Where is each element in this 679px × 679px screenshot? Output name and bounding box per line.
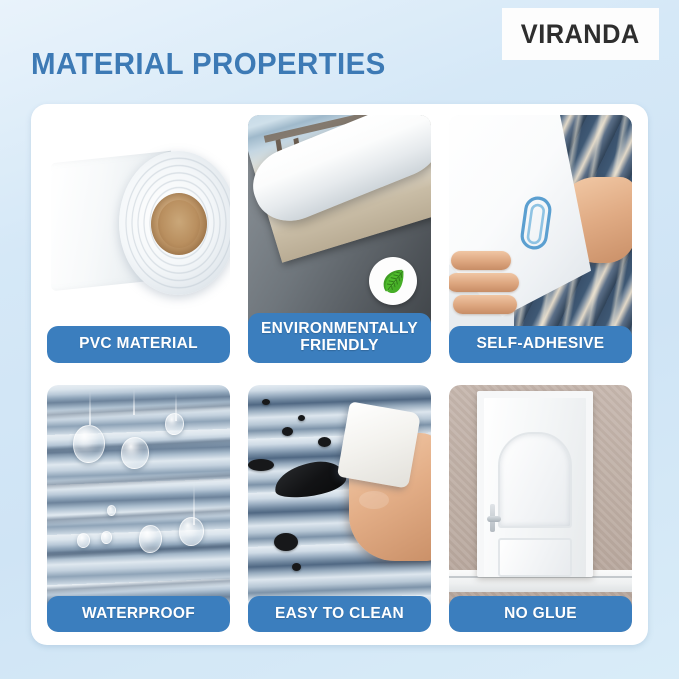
feature-card-environmentally-friendly[interactable]: ENVIRONMENTALLY FRIENDLY xyxy=(248,115,431,363)
drip-trail-1 xyxy=(89,391,91,425)
feature-label-pvc-material: PVC MATERIAL xyxy=(47,326,230,362)
stain-dot-4 xyxy=(318,437,331,447)
finger-3 xyxy=(453,295,517,314)
water-droplet-4 xyxy=(179,517,204,546)
pvc-roll-graphic xyxy=(51,151,230,296)
page-title: MATERIAL PROPERTIES xyxy=(31,46,386,82)
feature-label-waterproof: WATERPROOF xyxy=(47,596,230,632)
feature-label-line-2: FRIENDLY xyxy=(300,337,378,354)
water-droplet-6 xyxy=(77,533,90,548)
waterproof-image xyxy=(47,385,230,633)
no-glue-door-image xyxy=(449,385,632,633)
features-panel: PVC MATERIAL xyxy=(31,104,648,645)
feature-label-no-glue: NO GLUE xyxy=(449,596,632,632)
feature-card-no-glue[interactable]: NO GLUE xyxy=(449,385,632,633)
eco-curl-tip xyxy=(406,115,431,120)
water-droplet-1 xyxy=(73,425,105,463)
feature-card-pvc-material[interactable]: PVC MATERIAL xyxy=(47,115,230,363)
knuckle-2 xyxy=(359,491,389,509)
water-droplet-8 xyxy=(107,505,116,516)
door-panel-top xyxy=(498,432,572,528)
stain-dot-7 xyxy=(292,563,301,571)
stain-dot-5 xyxy=(248,459,274,471)
left-hand xyxy=(451,247,537,321)
feature-card-waterproof[interactable]: WATERPROOF xyxy=(47,385,230,633)
features-grid: PVC MATERIAL xyxy=(47,115,632,632)
stain-dot-2 xyxy=(298,415,305,421)
feature-card-self-adhesive[interactable]: SELF-ADHESIVE xyxy=(449,115,632,363)
door-slab xyxy=(484,398,586,577)
feature-card-easy-to-clean[interactable]: EASY TO CLEAN xyxy=(248,385,431,633)
finger-1 xyxy=(451,251,511,270)
material-properties-infographic: VIRANDA MATERIAL PROPERTIES xyxy=(0,0,679,679)
finger-2 xyxy=(449,273,519,292)
pvc-roll-core-inner xyxy=(158,200,200,248)
water-droplet-5 xyxy=(139,525,162,553)
leaf-icon xyxy=(369,257,417,305)
feature-label-environmentally-friendly: ENVIRONMENTALLY FRIENDLY xyxy=(248,313,431,363)
feature-label-self-adhesive: SELF-ADHESIVE xyxy=(449,326,632,362)
pvc-roll-core xyxy=(151,193,207,255)
door-frame xyxy=(477,391,593,577)
feature-label-line-1: ENVIRONMENTALLY xyxy=(261,320,418,337)
door-handle xyxy=(487,516,501,522)
stain-smear xyxy=(272,457,348,501)
stain-dot-6 xyxy=(274,533,298,551)
water-droplet-3 xyxy=(165,413,184,435)
stain-dot-3 xyxy=(282,427,293,436)
brand-name: VIRANDA xyxy=(521,19,640,50)
drip-trail-2 xyxy=(133,389,135,415)
brand-logo: VIRANDA xyxy=(502,8,659,60)
water-droplet-2 xyxy=(121,437,149,469)
stain-dot-1 xyxy=(262,399,270,405)
feature-label-easy-to-clean: EASY TO CLEAN xyxy=(248,596,431,632)
door-panel-bottom xyxy=(498,538,572,577)
cleaning-cloth xyxy=(337,401,421,488)
easy-to-clean-image xyxy=(248,385,431,633)
water-droplet-7 xyxy=(101,531,112,544)
